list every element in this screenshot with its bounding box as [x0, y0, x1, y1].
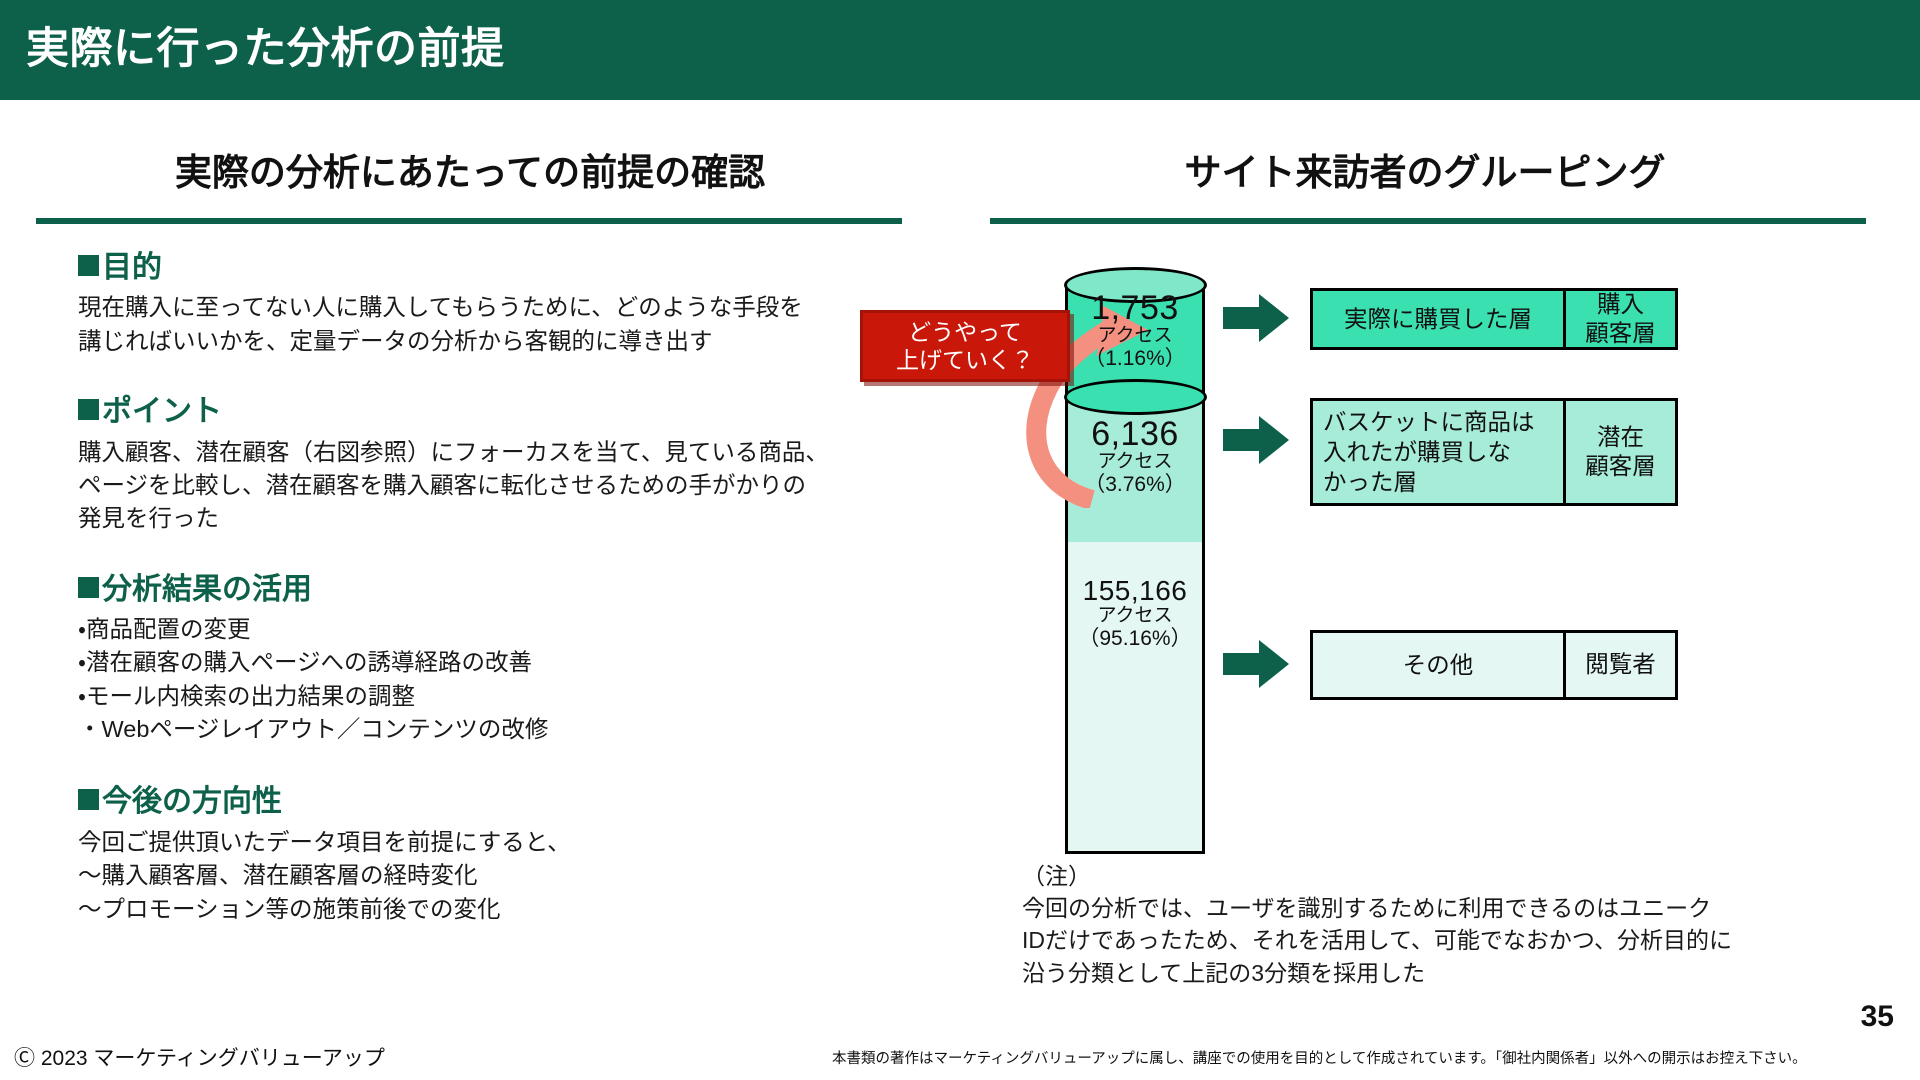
cylinder-percent-other: （95.16%）	[1065, 627, 1205, 652]
section-point-line: 発見を行った	[78, 502, 918, 535]
left-column-heading: 実際の分析にあたっての前提の確認	[40, 142, 900, 196]
section-purpose-heading: 目的	[78, 250, 918, 285]
group-tag-line: 閲覧者	[1585, 650, 1656, 679]
left-column: 目的 現在購入に至ってない人に購入してもらうために、どのような手段を 講じればい…	[78, 250, 918, 926]
group-description-line: 入れたが購買しな	[1323, 437, 1535, 467]
footer-copyright: Ⓒ 2023 マーケティングバリューアップ	[14, 1042, 385, 1072]
section-usage-body: ・商品配置の変更 ・潜在顧客の購入ページへの誘導経路の改善 ・モール内検索の出力…	[78, 613, 918, 746]
section-purpose-line: 現在購入に至ってない人に購入してもらうために、どのような手段を	[78, 291, 918, 324]
note-line: 今回の分析では、ユーザを識別するために利用できるのはユニーク	[1022, 892, 1882, 924]
group-description-line: かった層	[1323, 467, 1535, 497]
section-usage-heading-label: 分析結果の活用	[102, 573, 312, 606]
group-row-other-visitors: その他 閲覧者	[1310, 630, 1678, 700]
section-point-heading: ポイント	[78, 394, 918, 429]
callout-line-2: 上げていく？	[896, 346, 1034, 374]
group-row-potential-customers: バスケットに商品は 入れたが購買しな かった層 潜在 顧客層	[1310, 398, 1678, 506]
visitor-cylinder: 1,753 アクセス （1.16%） 6,136 アクセス （3.76%） 15…	[1065, 267, 1205, 862]
cylinder-value-other: 155,166	[1065, 577, 1205, 605]
section-purpose-line: 講じればいいかを、定量データの分析から客観的に導き出す	[78, 325, 918, 358]
group-tag-line: 顧客層	[1585, 319, 1656, 348]
section-purpose-heading-label: 目的	[102, 251, 162, 284]
section-future-body: 今回ご提供頂いたデータ項目を前提にすると、 〜購入顧客層、潜在顧客層の経時変化 …	[78, 826, 918, 926]
bullet-square-icon	[78, 789, 99, 810]
group-tag-potential: 潜在 顧客層	[1563, 401, 1675, 503]
section-point-line: 購入顧客、潜在顧客（右図参照）にフォーカスを当て、見ている商品、	[78, 436, 918, 469]
section-point: ポイント 購入顧客、潜在顧客（右図参照）にフォーカスを当て、見ている商品、 ペー…	[78, 394, 918, 535]
section-point-heading-label: ポイント	[102, 395, 222, 428]
section-usage-heading: 分析結果の活用	[78, 572, 918, 607]
section-usage: 分析結果の活用 ・商品配置の変更 ・潜在顧客の購入ページへの誘導経路の改善 ・モ…	[78, 572, 918, 747]
right-column-divider	[990, 218, 1866, 224]
bullet-square-icon	[78, 577, 99, 598]
group-tag-purchasing: 購入 顧客層	[1563, 291, 1675, 347]
group-description-purchasing: 実際に購買した層	[1313, 291, 1563, 347]
footer-notice: 本書類の著作はマーケティングバリューアップに属し、講座での使用を目的として作成さ…	[832, 1047, 1807, 1068]
visitor-grouping-diagram: 1,753 アクセス （1.16%） 6,136 アクセス （3.76%） 15…	[880, 250, 1920, 870]
right-arrow-icon	[1223, 292, 1289, 344]
cylinder-label-potential: 6,136 アクセス （3.76%）	[1065, 417, 1205, 498]
callout-line-1: どうやって	[908, 318, 1022, 346]
cylinder-percent-potential: （3.76%）	[1065, 473, 1205, 498]
group-tag-line: 顧客層	[1585, 452, 1656, 481]
section-future-line: 〜プロモーション等の施策前後での変化	[78, 893, 918, 926]
group-description-line: バスケットに商品は	[1323, 407, 1535, 437]
section-future-heading: 今後の方向性	[78, 784, 918, 819]
cylinder-unit-other: アクセス	[1065, 605, 1205, 627]
section-point-line: ページを比較し、潜在顧客を購入顧客に転化させるための手がかりの	[78, 469, 918, 502]
diagram-note: （注） 今回の分析では、ユーザを識別するために利用できるのはユニーク IDだけで…	[1022, 860, 1882, 989]
section-usage-item: ・潜在顧客の購入ページへの誘導経路の改善	[78, 646, 918, 679]
section-future: 今後の方向性 今回ご提供頂いたデータ項目を前提にすると、 〜購入顧客層、潜在顧客…	[78, 784, 918, 925]
bullet-square-icon	[78, 255, 99, 276]
group-description-other: その他	[1313, 633, 1563, 697]
left-column-divider	[36, 218, 902, 224]
group-description-line: 実際に購買した層	[1344, 304, 1532, 334]
group-description-potential: バスケットに商品は 入れたが購買しな かった層	[1313, 401, 1563, 503]
right-column-heading: サイト来訪者のグルーピング	[985, 142, 1865, 196]
cylinder-value-purchased: 1,753	[1065, 291, 1205, 325]
group-description-line: その他	[1403, 650, 1474, 680]
page-title: 実際に行った分析の前提	[26, 14, 505, 76]
section-usage-item: ・商品配置の変更	[78, 613, 918, 646]
right-arrow-icon	[1223, 414, 1289, 466]
section-future-heading-label: 今後の方向性	[102, 785, 282, 818]
cylinder-unit-potential: アクセス	[1065, 451, 1205, 473]
section-purpose-body: 現在購入に至ってない人に購入してもらうために、どのような手段を 講じればいいかを…	[78, 291, 918, 358]
section-usage-item: ・Webページレイアウト／コンテンツの改修	[78, 713, 918, 746]
cylinder-label-purchased: 1,753 アクセス （1.16%）	[1065, 291, 1205, 372]
cylinder-label-other: 155,166 アクセス （95.16%）	[1065, 577, 1205, 652]
cylinder-percent-purchased: （1.16%）	[1065, 347, 1205, 372]
note-label: （注）	[1022, 860, 1882, 892]
section-usage-item: ・モール内検索の出力結果の調整	[78, 680, 918, 713]
group-row-purchasing-customers: 実際に購買した層 購入 顧客層	[1310, 288, 1678, 350]
section-purpose: 目的 現在購入に至ってない人に購入してもらうために、どのような手段を 講じればい…	[78, 250, 918, 358]
cylinder-value-potential: 6,136	[1065, 417, 1205, 451]
note-line: IDだけであったため、それを活用して、可能でなおかつ、分析目的に	[1022, 924, 1882, 956]
right-arrow-icon	[1223, 638, 1289, 690]
note-line: 沿う分類として上記の3分類を採用した	[1022, 957, 1882, 989]
section-future-line: 〜購入顧客層、潜在顧客層の経時変化	[78, 859, 918, 892]
group-tag-line: 購入	[1597, 290, 1644, 319]
bullet-square-icon	[78, 399, 99, 420]
section-point-body: 購入顧客、潜在顧客（右図参照）にフォーカスを当て、見ている商品、 ページを比較し…	[78, 436, 918, 536]
cylinder-unit-purchased: アクセス	[1065, 325, 1205, 347]
callout-how-to-increase: どうやって 上げていく？	[860, 310, 1070, 382]
group-tag-other: 閲覧者	[1563, 633, 1675, 697]
page-number: 35	[1861, 1000, 1894, 1034]
group-tag-line: 潜在	[1597, 423, 1644, 452]
cylinder-divider-ellipse	[1064, 379, 1207, 415]
section-future-line: 今回ご提供頂いたデータ項目を前提にすると、	[78, 826, 918, 859]
